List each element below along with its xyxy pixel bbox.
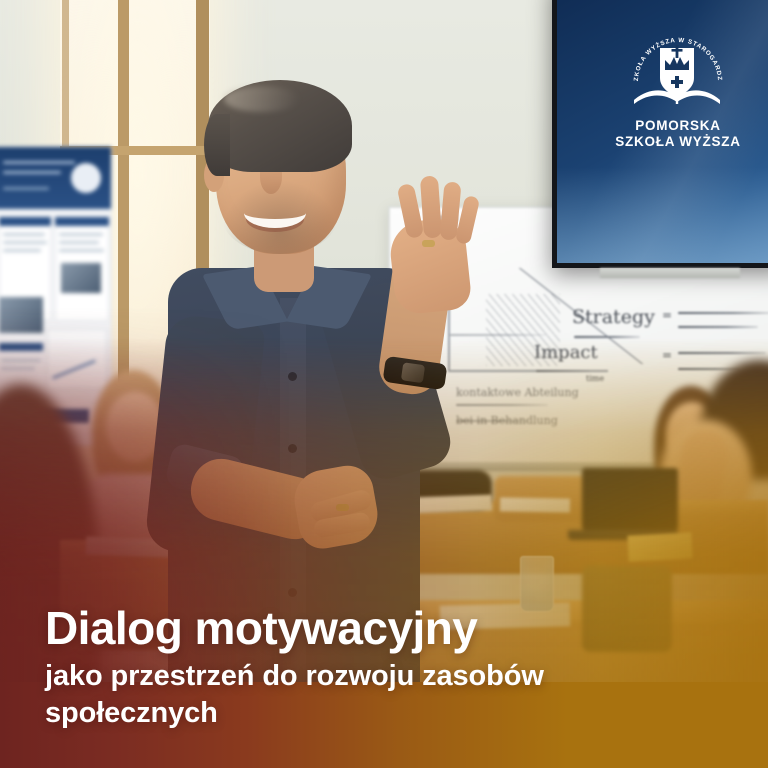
whiteboard-word-strategy: Strategy bbox=[572, 306, 655, 328]
lecturer-smile bbox=[244, 198, 306, 228]
lecturer-wedding-ring bbox=[422, 240, 435, 247]
projector-screen-mount bbox=[600, 268, 740, 278]
poster-logo-circle bbox=[71, 163, 101, 193]
caption-block: Dialog motywacyjny jako przestrzeń do ro… bbox=[45, 604, 705, 732]
logo-name-line-2: SZKOŁA WYŻSZA bbox=[608, 134, 748, 150]
poster-photo bbox=[61, 263, 101, 293]
logo-name-line-1: POMORSKA bbox=[608, 118, 748, 134]
logo-emblem-icon: POMORSKA SZKOŁA WYŻSZA W STAROGARDZIE GD… bbox=[624, 26, 732, 118]
poster-header bbox=[0, 147, 111, 209]
whiteboard-bullet: = bbox=[662, 308, 672, 322]
caption-title: Dialog motywacyjny bbox=[45, 604, 705, 653]
screen-bottom-fade bbox=[557, 167, 768, 263]
caption-subtitle-line-2: społecznych bbox=[45, 695, 705, 732]
university-logo: POMORSKA SZKOŁA WYŻSZA W STAROGARDZIE GD… bbox=[608, 26, 748, 158]
caption-subtitle-line-1: jako przestrzeń do rozwoju zasobów bbox=[45, 658, 705, 695]
lecturer-hair-highlight bbox=[224, 86, 300, 112]
promotional-poster: Sov B 100 50 time Target Strategy Impact… bbox=[0, 0, 768, 768]
